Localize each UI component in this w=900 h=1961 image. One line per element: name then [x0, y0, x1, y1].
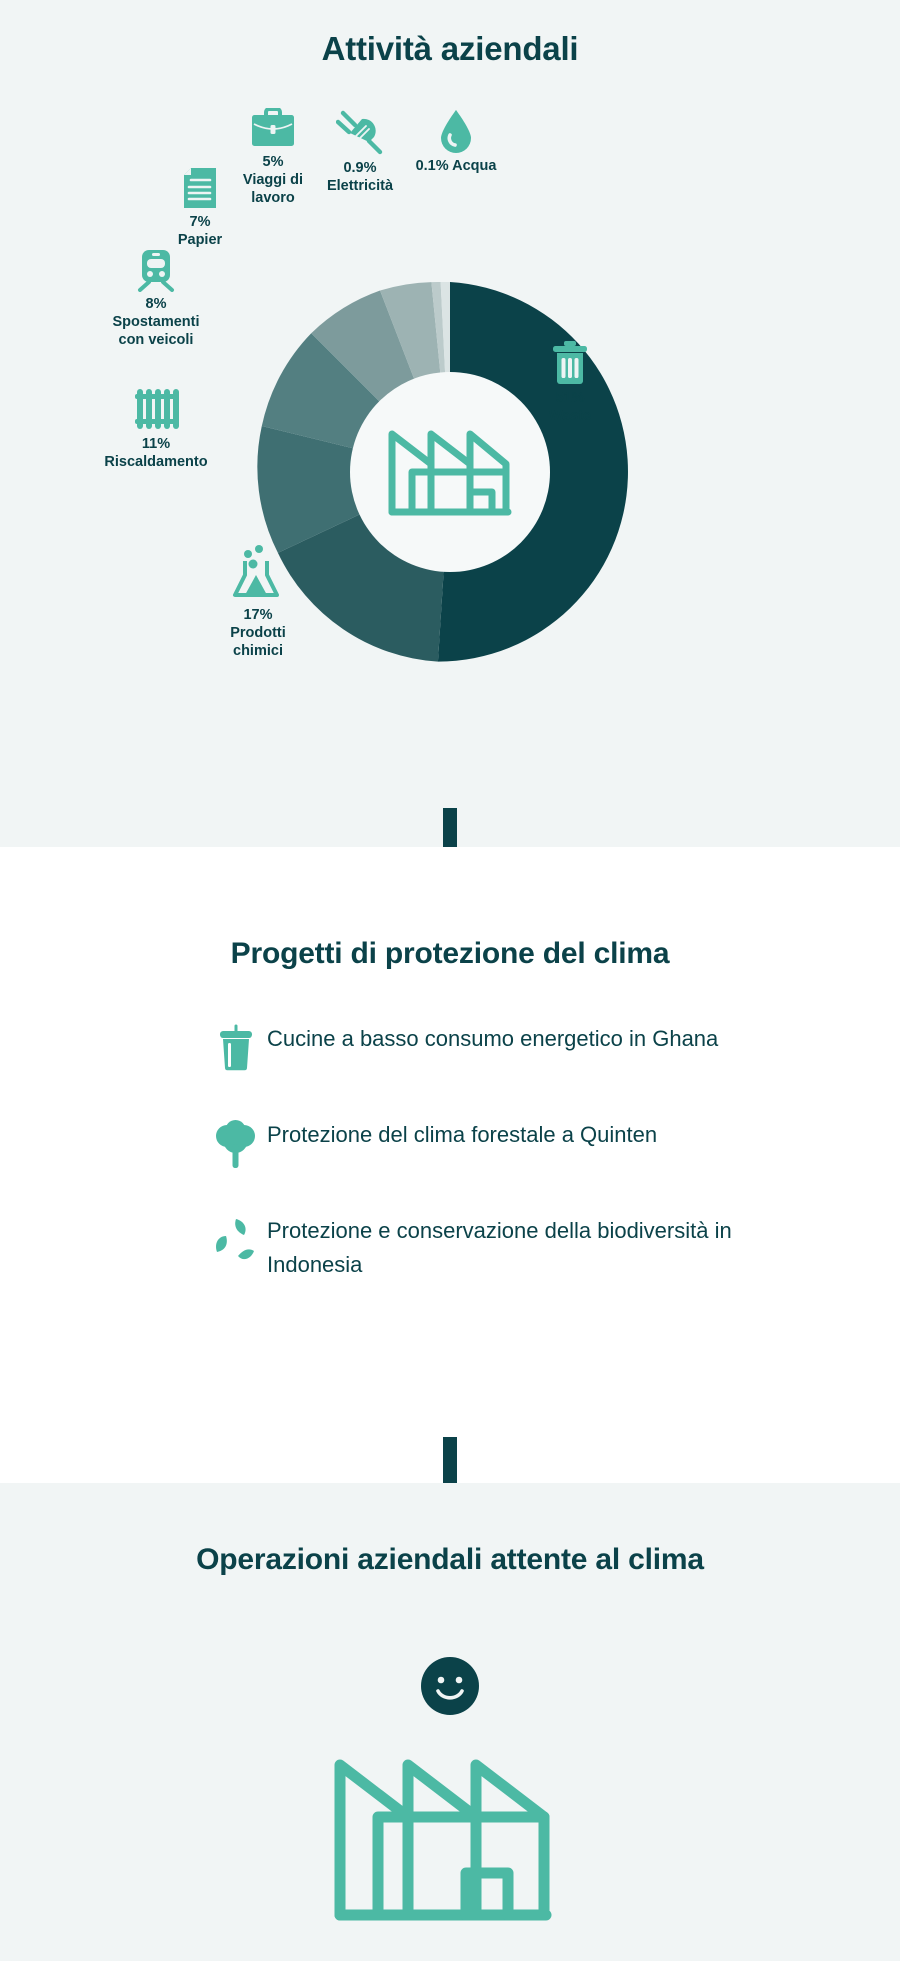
list-item-label: Protezione e conservazione della biodive… [267, 1214, 765, 1282]
legend-pct-chemicals: 17% [198, 607, 318, 625]
legend-item-water: 0.1% Acqua [396, 108, 516, 176]
legend-pct-paper: 7% [152, 214, 248, 232]
list-item-cookstoves: Cucine a basso consumo energetico in Gha… [205, 1022, 765, 1082]
legend-name-electricity: Elettricità [310, 178, 410, 196]
tree-icon [212, 1120, 260, 1170]
smiley-face-icon [419, 1655, 481, 1717]
radiator-icon [128, 386, 184, 432]
legend-item-chemicals: 17% Prodotti chimici [198, 545, 318, 661]
legend-name-vehicles-1: Spostamenti [88, 314, 224, 332]
projects-list: Cucine a basso consumo energetico in Gha… [205, 1022, 765, 1318]
recycle-leaves-icon [211, 1216, 261, 1266]
legend-name-vehicles-2: con veicoli [88, 332, 224, 350]
list-item-forest: Protezione del clima forestale a Quinten [205, 1118, 765, 1178]
legend-pct-vehicles: 8% [88, 296, 224, 314]
briefcase-icon [250, 108, 296, 150]
legend-item-paper: 7% Papier [152, 166, 248, 250]
list-item-label: Cucine a basso consumo energetico in Gha… [267, 1022, 718, 1056]
arrow-shaft [443, 1437, 457, 1484]
page-title-activities: Attività aziendali [0, 30, 900, 68]
flask-icon [231, 545, 285, 603]
page-title-result: Operazioni aziendali attente al clima [0, 1540, 900, 1579]
legend-item-electricity: 0.9% Elettricità [310, 108, 410, 196]
project-icon-cell [205, 1022, 267, 1072]
legend-pct-electricity: 0.9% [310, 160, 410, 178]
smiley-face-svg [419, 1655, 481, 1717]
section-climate-projects: Progetti di protezione del clima Cucine … [0, 847, 900, 1483]
water-drop-icon [439, 108, 473, 154]
legend-name-chemicals-1: Prodotti [198, 625, 318, 643]
legend-label-water: 0.1% Acqua [396, 158, 516, 176]
plug-icon [336, 108, 384, 156]
list-item-biodiversity: Protezione e conservazione della biodive… [205, 1214, 765, 1282]
legend-item-vehicles: 8% Spostamenti con veicoli [88, 248, 224, 350]
legend-item-waste: 51% Waste [520, 340, 620, 426]
cookstove-icon [214, 1024, 258, 1072]
legend-name-waste: Waste [520, 408, 620, 426]
factory-icon-large [330, 1755, 570, 1925]
project-icon-cell [205, 1214, 267, 1266]
section-company-activities: Attività aziendali [0, 0, 900, 847]
legend-pct-waste: 51% [520, 390, 620, 408]
page-title-projects: Progetti di protezione del clima [0, 937, 900, 971]
legend-item-heating: 11% Riscaldamento [88, 386, 224, 472]
factory-icon [384, 424, 516, 520]
legend-pct-heating: 11% [88, 436, 224, 454]
train-icon [134, 248, 178, 292]
document-icon [182, 166, 218, 210]
infographic-page: Attività aziendali [0, 0, 900, 1961]
legend-name-chemicals-2: chimici [198, 643, 318, 661]
trash-bin-icon [550, 340, 590, 386]
factory-icon [330, 1755, 570, 1925]
list-item-label: Protezione del clima forestale a Quinten [267, 1118, 657, 1152]
project-icon-cell [205, 1118, 267, 1170]
legend-name-heating: Riscaldamento [88, 454, 224, 472]
